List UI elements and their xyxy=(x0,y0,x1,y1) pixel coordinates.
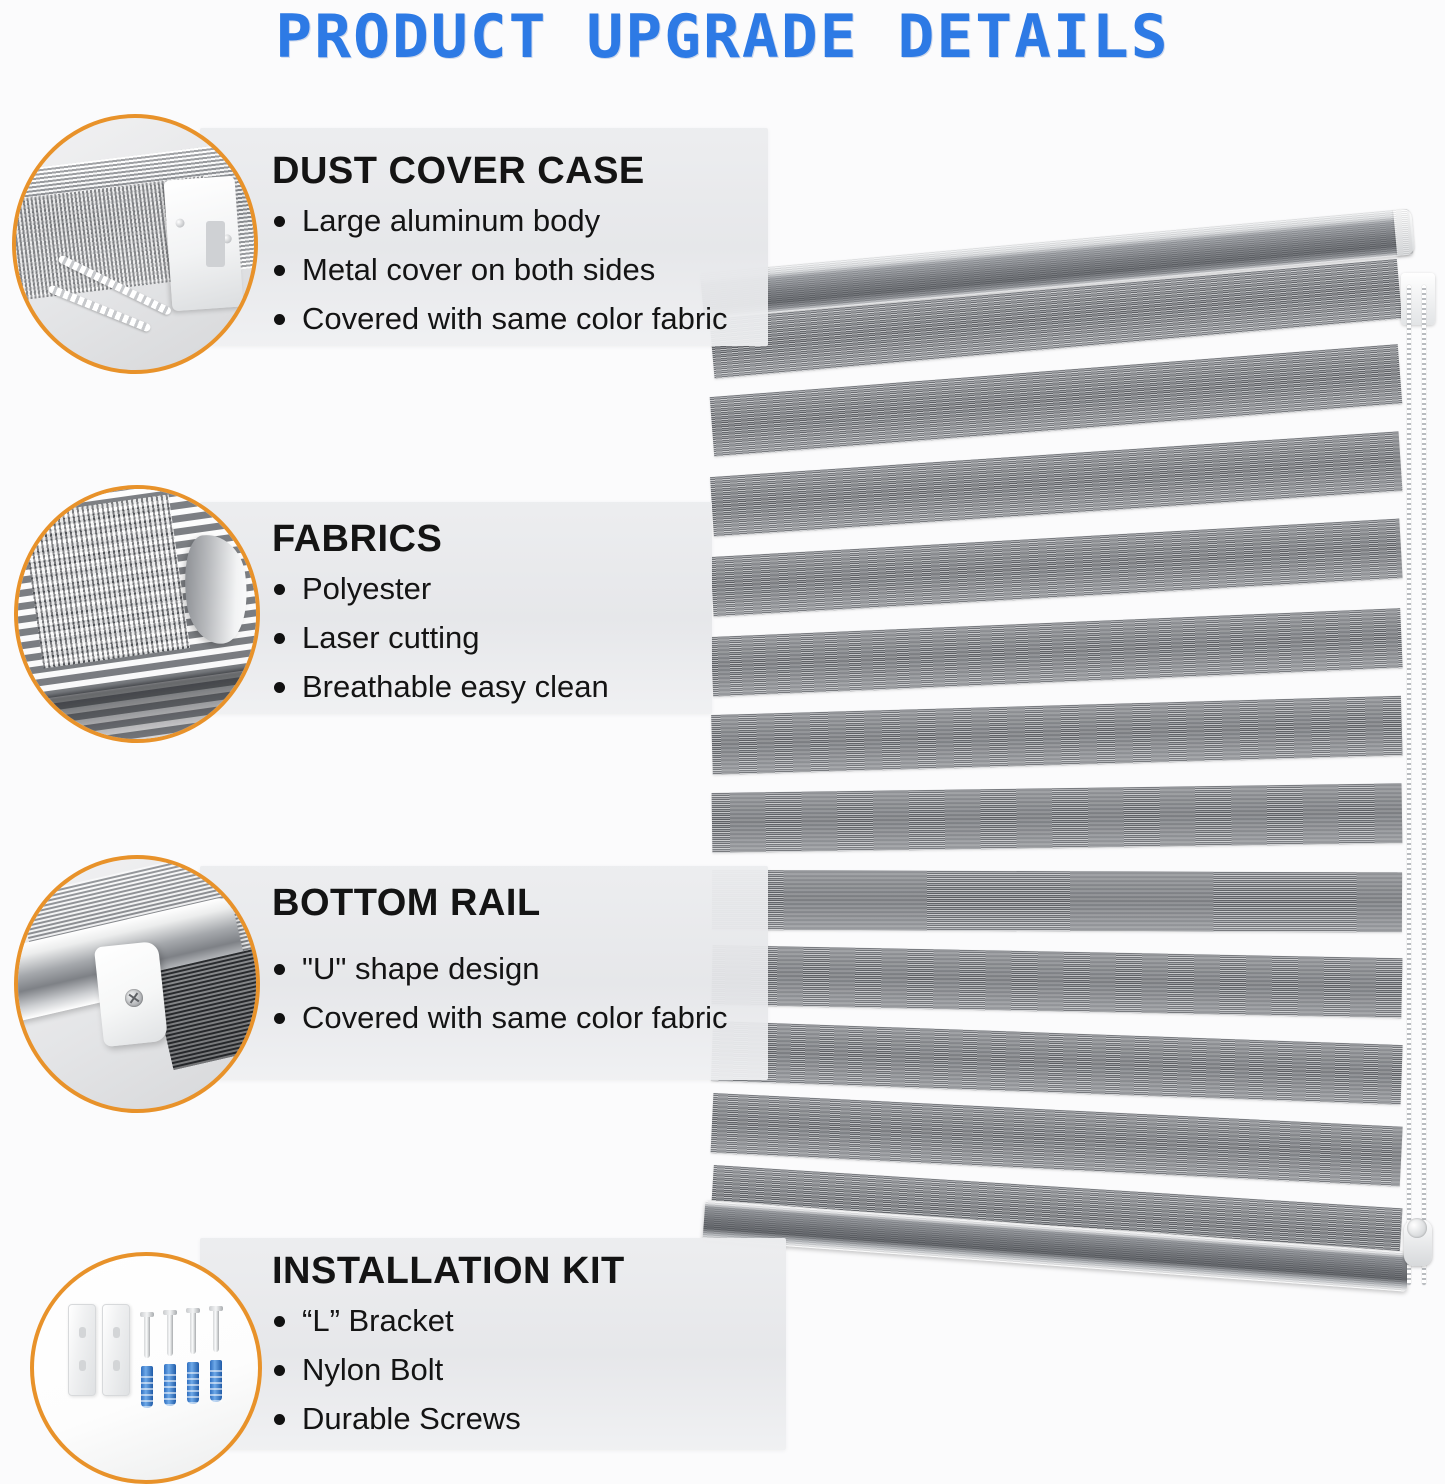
bullet-item: “L” Bracket xyxy=(272,1305,521,1336)
screw-icon xyxy=(213,1306,219,1352)
bullet-item: Breathable easy clean xyxy=(272,671,609,702)
section-bullet-list: "U" shape design Covered with same color… xyxy=(272,953,728,1033)
photo-content xyxy=(34,1256,258,1480)
bullet-item: Laser cutting xyxy=(272,622,609,653)
bullet-item: Covered with same color fabric xyxy=(272,303,728,334)
fabric-stripe xyxy=(710,519,1402,617)
chain-connector[interactable] xyxy=(1404,1220,1432,1266)
section-heading: INSTALLATION KIT xyxy=(272,1250,625,1293)
bullet-item: Metal cover on both sides xyxy=(272,254,728,285)
fabric-stripe xyxy=(711,696,1402,775)
nylon-wall-plug xyxy=(187,1362,199,1404)
fabric-mesh-texture xyxy=(22,494,190,668)
bead-chain-strand-right xyxy=(1422,285,1426,1285)
nylon-wall-plug xyxy=(141,1366,153,1408)
bullet-item: Durable Screws xyxy=(272,1403,521,1434)
bead-chain[interactable] xyxy=(1405,285,1431,1285)
section-heading: DUST COVER CASE xyxy=(272,150,645,193)
panel-edge-fade xyxy=(716,1238,786,1450)
fabric-stripe xyxy=(711,945,1402,1018)
screw-icon xyxy=(144,1312,150,1358)
nylon-wall-plug xyxy=(164,1364,176,1406)
panel-edge-fade xyxy=(642,502,712,714)
fabric-stripe xyxy=(711,608,1403,697)
screw-icon xyxy=(175,219,185,229)
screw-icon xyxy=(125,989,143,1007)
bead-chain-strand-left xyxy=(1407,285,1411,1285)
cassette-end-cap xyxy=(164,176,244,312)
photo-oval-bottom-rail xyxy=(14,855,260,1113)
cassette-slot xyxy=(206,221,225,266)
nylon-wall-plug xyxy=(210,1360,222,1402)
section-bullet-list: “L” Bracket Nylon Bolt Durable Screws xyxy=(272,1305,521,1434)
bullet-item: Nylon Bolt xyxy=(272,1354,521,1385)
screw-icon xyxy=(190,1308,196,1354)
infographic-canvas: PRODUCT UPGRADE DETAILS xyxy=(0,0,1445,1476)
roller-blind-illustration xyxy=(690,215,1445,1330)
bullet-item: Polyester xyxy=(272,573,609,604)
section-bullet-list: Large aluminum body Metal cover on both … xyxy=(272,205,728,334)
fabric-stripe xyxy=(712,783,1403,853)
chain-pulley xyxy=(1407,1218,1427,1238)
bullet-item: Covered with same color fabric xyxy=(272,1002,728,1033)
bullet-item: "U" shape design xyxy=(272,953,728,984)
section-heading: BOTTOM RAIL xyxy=(272,882,541,925)
bullet-item: Large aluminum body xyxy=(272,205,728,236)
photo-content xyxy=(18,489,256,739)
fabric-stripe xyxy=(712,870,1402,932)
photo-content xyxy=(16,118,254,370)
photo-content xyxy=(18,859,256,1109)
screw-icon xyxy=(167,1310,173,1356)
photo-oval-fabrics xyxy=(14,485,260,743)
product-photo xyxy=(690,215,1445,1330)
photo-oval-installation-kit xyxy=(30,1252,262,1484)
l-bracket xyxy=(102,1304,130,1396)
section-bullet-list: Polyester Laser cutting Breathable easy … xyxy=(272,573,609,702)
l-bracket xyxy=(68,1304,96,1396)
fabric-stripe xyxy=(711,1021,1403,1105)
photo-oval-dust-cover-case xyxy=(12,114,258,374)
section-heading: FABRICS xyxy=(272,518,442,561)
page-title: PRODUCT UPGRADE DETAILS xyxy=(0,2,1445,72)
head-rail-end-cap xyxy=(1393,208,1415,255)
